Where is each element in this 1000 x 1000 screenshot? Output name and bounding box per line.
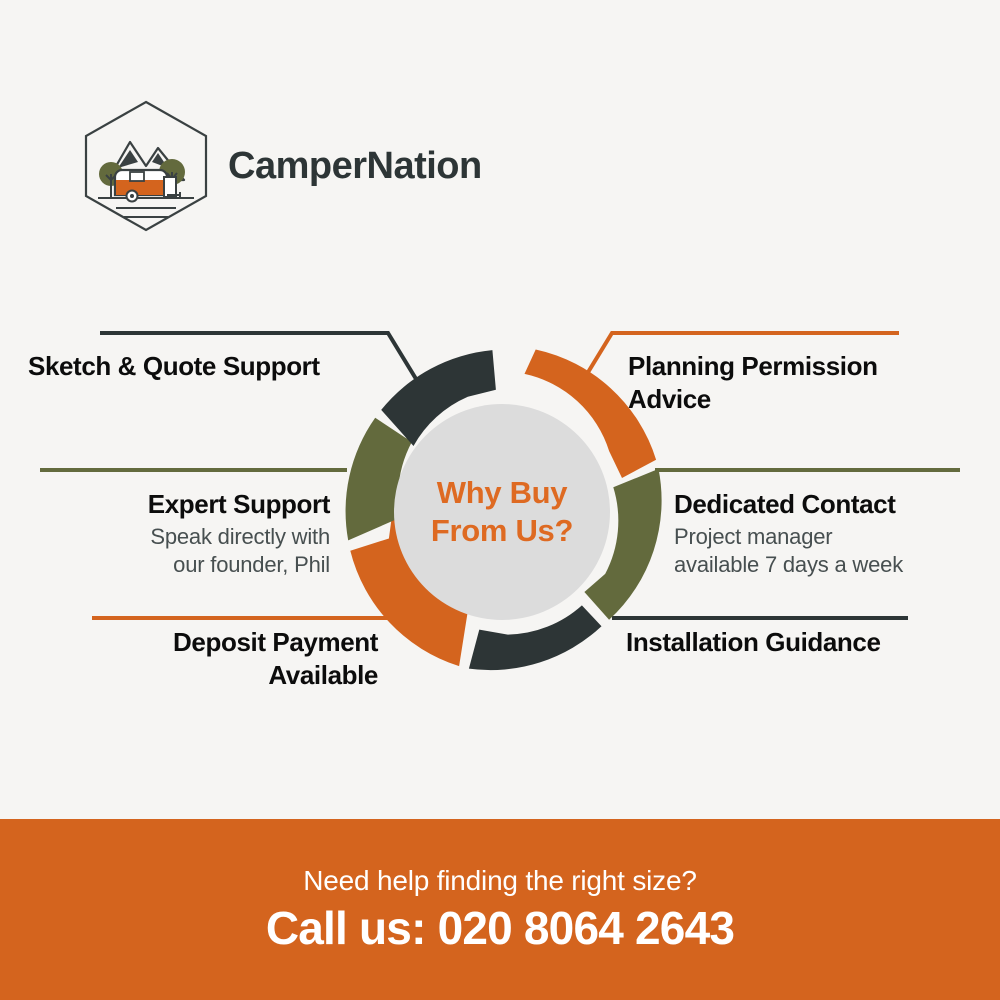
label-sketch-title: Sketch & Quote Support xyxy=(28,350,373,383)
label-sketch-quote-support[interactable]: Sketch & Quote Support xyxy=(28,350,373,383)
infographic-canvas: CamperNation xyxy=(0,0,1000,1000)
camper-van-mountain-badge-icon xyxy=(78,96,214,236)
label-dedicated-contact[interactable]: Dedicated Contact Project manager availa… xyxy=(674,488,964,580)
label-expert-subtitle: Speak directly with our founder, Phil xyxy=(55,523,330,579)
label-install-title: Installation Guidance xyxy=(626,626,956,659)
cta-phone-link[interactable]: Call us: 020 8064 2643 xyxy=(266,901,734,955)
call-to-action-banner: Need help finding the right size? Call u… xyxy=(0,819,1000,1000)
label-expert-title: Expert Support xyxy=(55,488,330,521)
label-planning-permission-advice[interactable]: Planning Permission Advice xyxy=(628,350,948,417)
label-dedicated-subtitle: Project manager available 7 days a week xyxy=(674,523,964,579)
label-dedicated-title: Dedicated Contact xyxy=(674,488,964,521)
why-buy-from-us-wheel: Why Buy From Us? xyxy=(332,342,672,682)
label-installation-guidance[interactable]: Installation Guidance xyxy=(626,626,956,659)
brand-name: CamperNation xyxy=(228,145,482,188)
label-planning-title: Planning Permission Advice xyxy=(628,350,948,417)
label-expert-support[interactable]: Expert Support Speak directly with our f… xyxy=(55,488,330,580)
brand-header: CamperNation xyxy=(78,96,482,236)
label-deposit-payment-available[interactable]: Deposit Payment Available xyxy=(90,626,378,693)
label-deposit-title: Deposit Payment Available xyxy=(90,626,378,693)
wheel-hub xyxy=(394,404,610,620)
cta-question: Need help finding the right size? xyxy=(303,865,696,897)
